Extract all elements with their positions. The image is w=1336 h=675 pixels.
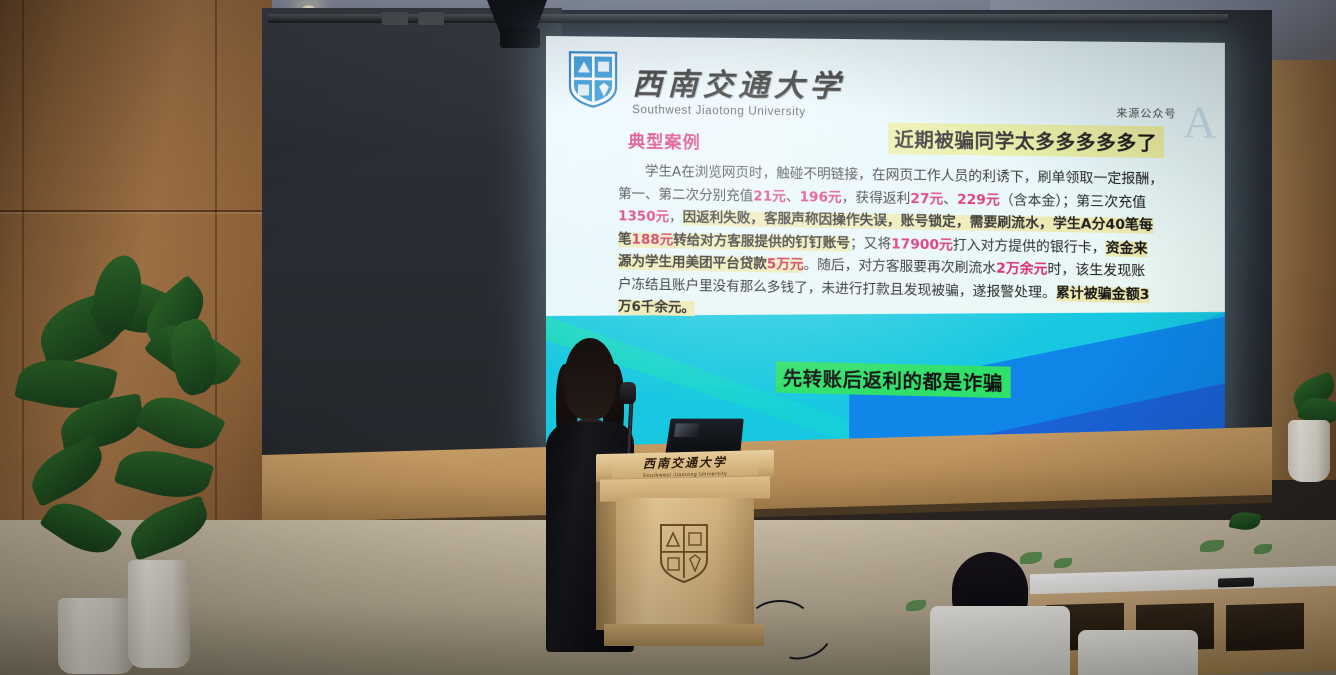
- rail-clip: [382, 12, 408, 25]
- university-wordmark: 西南交通大学 Southwest Jiaotong University: [632, 59, 845, 119]
- plant-pot: [58, 598, 134, 674]
- university-crest-icon: [568, 50, 618, 109]
- laptop-screen-glare: [674, 423, 700, 437]
- podium-crest-icon: [658, 522, 710, 584]
- projection-screen-surface: [262, 8, 562, 478]
- slide-section-title: 典型案例: [628, 127, 701, 153]
- podium-name-cn: 西南交通大学: [643, 453, 727, 472]
- laptop[interactable]: [665, 419, 743, 454]
- watermark-letter: A: [1183, 100, 1216, 146]
- podium-base: [604, 624, 764, 646]
- university-name-en: Southwest Jiaotong University: [632, 104, 845, 119]
- microphone-icon: [620, 382, 636, 404]
- desk-cubby: [1226, 603, 1304, 651]
- podium-side: [596, 480, 618, 630]
- smartphone[interactable]: [1218, 577, 1254, 587]
- lecture-hall-photo: 西南交通大学 Southwest Jiaotong University 来源公…: [0, 0, 1336, 675]
- foreground-chair-back: [930, 606, 1070, 675]
- speaker-hair: [564, 338, 616, 420]
- foreground-chair-back: [1078, 630, 1198, 675]
- podium-nameplate: 西南交通大学 Southwest Jiaotong University: [612, 453, 758, 479]
- plant-pot: [128, 560, 190, 668]
- screen-rail: [268, 14, 1228, 23]
- rail-clip: [418, 12, 444, 25]
- university-name-cn: 西南交通大学: [632, 59, 845, 106]
- slide-headline-banner: 近期被骗同学太多多多多多了: [888, 123, 1163, 158]
- plant-pot: [1288, 420, 1330, 482]
- projected-slide: 西南交通大学 Southwest Jiaotong University 来源公…: [546, 36, 1225, 466]
- projector-body: [500, 28, 540, 48]
- source-label: 来源公众号: [1116, 105, 1176, 121]
- slide-body-text: 学生A在浏览网页时，触碰不明链接，在网页工作人员的利诱下，刷单领取一定报酬， 第…: [618, 161, 1151, 330]
- slide-bottom-banner: 先转账后返利的都是诈骗: [776, 361, 1011, 398]
